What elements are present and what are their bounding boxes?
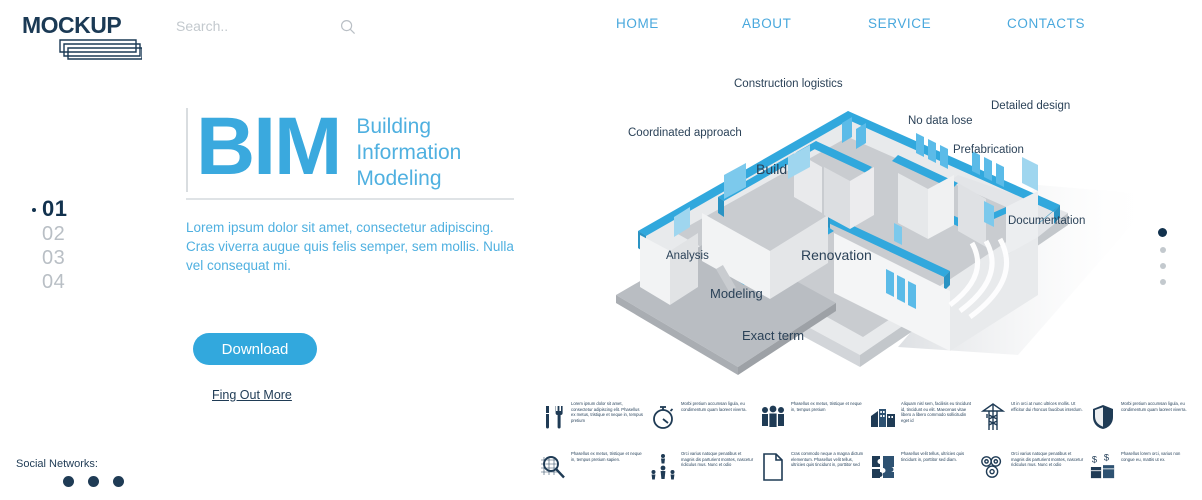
search-icon[interactable] bbox=[340, 19, 356, 35]
hero-subtitle-line-1: Building bbox=[356, 114, 461, 140]
logo-text: MOCKUP bbox=[22, 14, 142, 37]
feature-text: Orci varius natoque penatibus et magnis … bbox=[681, 448, 755, 468]
isometric-floorplan: Construction logistics Coordinated appro… bbox=[598, 55, 1168, 385]
iso-label-renovation: Renovation bbox=[801, 247, 872, 263]
feature-item-puzzle: Phasellus velit tellus, ultricies quis t… bbox=[870, 448, 980, 498]
iso-label-prefabrication: Prefabrication bbox=[953, 144, 1024, 156]
shield-icon bbox=[1090, 398, 1116, 436]
feature-text: Phasellus velit tellus, ultricies quis t… bbox=[901, 448, 975, 462]
iso-label-exact-term: Exact term bbox=[742, 328, 804, 343]
iso-label-build: Build bbox=[756, 161, 787, 177]
feature-text: Morbi pretium accumsan ligula, eu condim… bbox=[681, 398, 755, 412]
feature-item-moneybags: $ $ Phasellus lorem orci, varius non con… bbox=[1090, 448, 1200, 498]
pager-item-03[interactable]: 03 bbox=[30, 246, 90, 270]
hero-title-block: BIM Building Information Modeling bbox=[186, 108, 516, 192]
social-icons bbox=[63, 476, 124, 487]
iso-label-no-data-lose: No data lose bbox=[908, 115, 973, 127]
feature-item-tools: Lorem ipsum dolor sit amet, consectetur … bbox=[540, 398, 650, 448]
nav-item-service[interactable]: SERVICE bbox=[868, 16, 931, 31]
nav-item-home[interactable]: HOME bbox=[616, 16, 659, 31]
feature-text: Lorem ipsum dolor sit amet, consectetur … bbox=[571, 398, 645, 423]
magnifier-icon bbox=[540, 448, 566, 486]
feature-item-magnifier: Phasellus ex metus, tristique et neque i… bbox=[540, 448, 650, 498]
document-icon bbox=[760, 448, 786, 486]
pager-item-04[interactable]: 04 bbox=[30, 270, 90, 294]
iso-label-documentation: Documentation bbox=[1008, 215, 1085, 227]
feature-text: Cras commodo neque a magna dictum elemen… bbox=[791, 448, 865, 468]
nav-item-contacts[interactable]: CONTACTS bbox=[1007, 16, 1085, 31]
nav-item-about[interactable]: ABOUT bbox=[742, 16, 792, 31]
main-navigation: HOME ABOUT SERVICE CONTACTS bbox=[600, 16, 1120, 40]
iso-label-construction-logistics: Construction logistics bbox=[734, 78, 843, 90]
hero-subtitle-line-3: Modeling bbox=[356, 166, 461, 192]
gears-icon bbox=[980, 448, 1006, 486]
tools-icon bbox=[540, 398, 566, 436]
hero-paragraph: Lorem ipsum dolor sit amet, consectetur … bbox=[186, 218, 516, 275]
pager-item-01[interactable]: 01 bbox=[30, 196, 90, 222]
social-icon-2[interactable] bbox=[88, 476, 99, 487]
stacked-papers-icon bbox=[58, 38, 142, 60]
pager-item-02[interactable]: 02 bbox=[30, 222, 90, 246]
svg-text:$: $ bbox=[1104, 453, 1109, 463]
feature-item-buildings: Aliquam nisl sem, facilisis eu tincidunt… bbox=[870, 398, 980, 448]
hero-divider bbox=[186, 198, 514, 200]
page-title: BIM bbox=[196, 108, 340, 186]
feature-text: Phasellus ex metus, tristique et neque i… bbox=[571, 448, 645, 462]
feature-item-crane: Ut in orci at nunc ultrices mollis. Ut e… bbox=[980, 398, 1090, 448]
iso-label-modeling: Modeling bbox=[710, 286, 763, 301]
svg-text:$: $ bbox=[1092, 454, 1097, 464]
feature-item-gears: Orci varius natoque penatibus et magnis … bbox=[980, 448, 1090, 498]
hero-subtitle: Building Information Modeling bbox=[356, 114, 461, 192]
social-icon-3[interactable] bbox=[113, 476, 124, 487]
search-input[interactable] bbox=[176, 18, 326, 34]
feature-text: Phasellus ex metus, tristique et neque i… bbox=[791, 398, 865, 412]
feature-item-stopwatch: Morbi pretium accumsan ligula, eu condim… bbox=[650, 398, 760, 448]
search-box[interactable] bbox=[176, 18, 356, 40]
social-networks-label: Social Networks: bbox=[16, 458, 98, 470]
iso-label-coordinated-approach: Coordinated approach bbox=[628, 127, 742, 139]
crane-icon bbox=[980, 398, 1006, 436]
feature-text: Orci varius natoque penatibus et magnis … bbox=[1011, 448, 1085, 468]
feature-item-document: Cras commodo neque a magna dictum elemen… bbox=[760, 448, 870, 498]
stopwatch-icon bbox=[650, 398, 676, 436]
weights-icon bbox=[650, 448, 676, 486]
logo[interactable]: MOCKUP bbox=[22, 14, 142, 58]
feature-item-people: Phasellus ex metus, tristique et neque i… bbox=[760, 398, 870, 448]
iso-label-analysis: Analysis bbox=[666, 250, 709, 262]
slide-pager: 01 02 03 04 bbox=[30, 196, 90, 294]
hero-subtitle-line-2: Information bbox=[356, 140, 461, 166]
feature-item-weights: Orci varius natoque penatibus et magnis … bbox=[650, 448, 760, 498]
download-button[interactable]: Download bbox=[193, 333, 317, 365]
feature-text: Aliquam nisl sem, facilisis eu tincidunt… bbox=[901, 398, 975, 423]
feature-item-shield: Morbi pretium accumsan ligula, eu condim… bbox=[1090, 398, 1200, 448]
hero-section: BIM Building Information Modeling Lorem … bbox=[186, 108, 516, 275]
find-out-more-link[interactable]: Fing Out More bbox=[212, 388, 292, 402]
buildings-icon bbox=[870, 398, 896, 436]
social-networks: Social Networks: bbox=[16, 458, 98, 470]
iso-label-detailed-design: Detailed design bbox=[991, 100, 1070, 112]
moneybags-icon: $ $ bbox=[1090, 448, 1116, 486]
feature-text: Morbi pretium accumsan ligula, eu condim… bbox=[1121, 398, 1195, 412]
people-icon bbox=[760, 398, 786, 436]
landing-page: MOCKUP HOME ABOUT SERVICE CONTACTS 01 02… bbox=[0, 0, 1202, 500]
feature-text: Ut in orci at nunc ultrices mollis. Ut e… bbox=[1011, 398, 1085, 412]
feature-text: Phasellus lorem orci, varius non congue … bbox=[1121, 448, 1195, 462]
feature-grid: Lorem ipsum dolor sit amet, consectetur … bbox=[540, 398, 1200, 498]
puzzle-icon bbox=[870, 448, 896, 486]
social-icon-1[interactable] bbox=[63, 476, 74, 487]
